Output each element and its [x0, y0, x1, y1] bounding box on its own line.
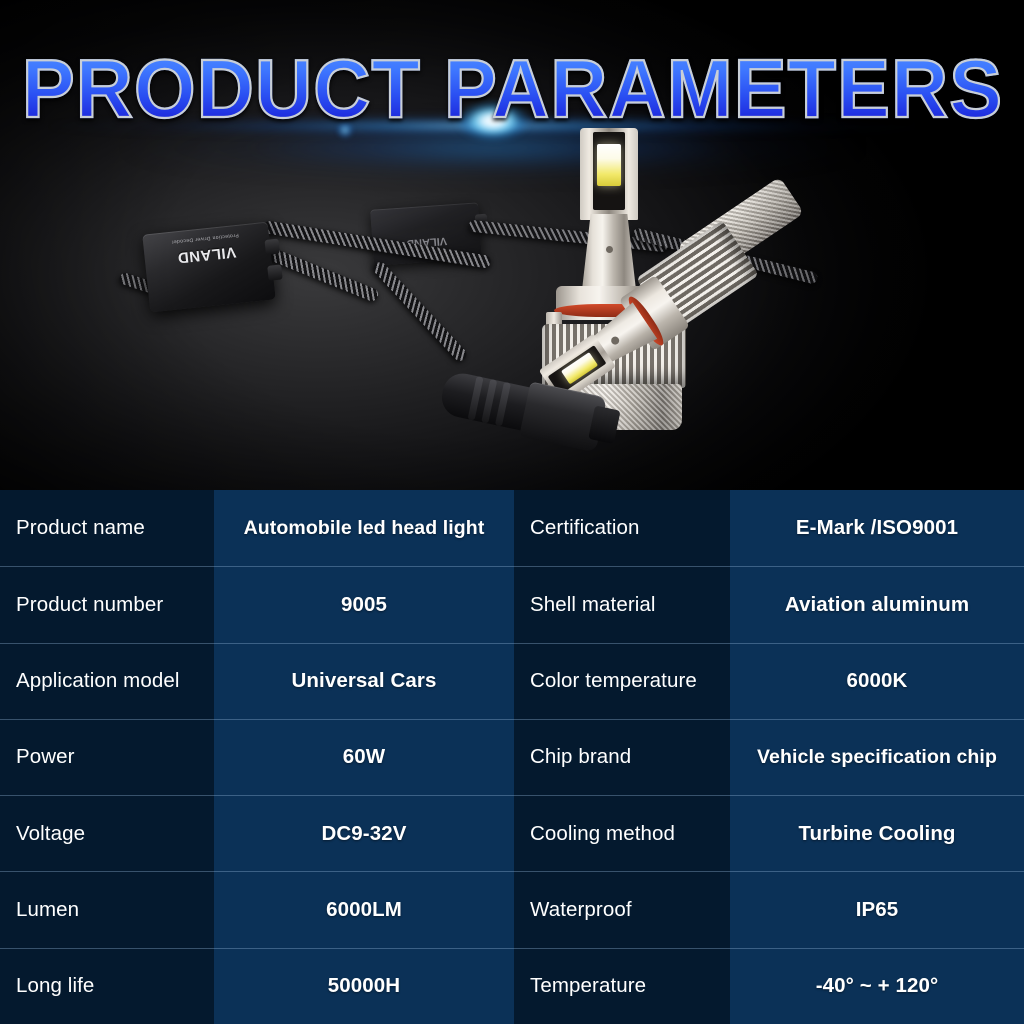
spec-label-cell: Certification [514, 490, 730, 566]
lens-flare-dot-icon [337, 122, 353, 138]
spec-label-cell: Temperature [514, 948, 730, 1024]
braided-cable [371, 260, 469, 364]
spec-label-cell: Cooling method [514, 795, 730, 871]
spec-label-cell: Application model [0, 643, 214, 719]
spec-value-cell: Vehicle specification chip [730, 719, 1024, 795]
spec-value-cell: E-Mark /ISO9001 [730, 490, 1024, 566]
connector-tip [588, 405, 621, 444]
product-parameters-page: VILAND Protection Driver Decoder VILAND [0, 0, 1024, 1024]
spec-value-cell: Turbine Cooling [730, 795, 1024, 871]
spec-label-cell: Product name [0, 490, 214, 566]
spec-label-cell: Long life [0, 948, 214, 1024]
spec-value-cell: Automobile led head light [214, 490, 514, 566]
spec-value-cell: -40° ~ + 120° [730, 948, 1024, 1024]
spec-value-cell: 50000H [214, 948, 514, 1024]
led-chip-icon [561, 352, 598, 384]
led-chip-icon [597, 144, 621, 186]
spec-value-cell: Universal Cars [214, 643, 514, 719]
spec-value-cell: 9005 [214, 566, 514, 642]
spec-label-cell: Product number [0, 566, 214, 642]
spec-value-cell: Aviation aluminum [730, 566, 1024, 642]
bulb-chip-holder [580, 128, 638, 220]
bulb-chip-slot [593, 132, 625, 210]
spec-value-cell: DC9-32V [214, 795, 514, 871]
spec-label-cell: Voltage [0, 795, 214, 871]
product-parameters-table: Product nameAutomobile led head lightCer… [0, 490, 1024, 1024]
spec-value-cell: 60W [214, 719, 514, 795]
cable-gland-icon [264, 239, 279, 255]
led-driver-box-primary: Protection Driver Decoder VILAND [142, 222, 275, 313]
spec-label-cell: Waterproof [514, 871, 730, 947]
spec-value-cell: 6000LM [214, 871, 514, 947]
spec-label-cell: Shell material [514, 566, 730, 642]
spec-label-cell: Lumen [0, 871, 214, 947]
spec-label-cell: Power [0, 719, 214, 795]
lens-flare-glow-icon [120, 116, 880, 186]
spec-label-cell: Chip brand [514, 719, 730, 795]
product-photo-hero: VILAND Protection Driver Decoder VILAND [0, 0, 1024, 490]
lens-flare-streak-icon [50, 108, 950, 144]
cable-gland-icon [267, 264, 282, 280]
bulb-neck-dot [606, 246, 613, 253]
spec-label-cell: Color temperature [514, 643, 730, 719]
spec-value-cell: 6000K [730, 643, 1024, 719]
spec-value-cell: IP65 [730, 871, 1024, 947]
